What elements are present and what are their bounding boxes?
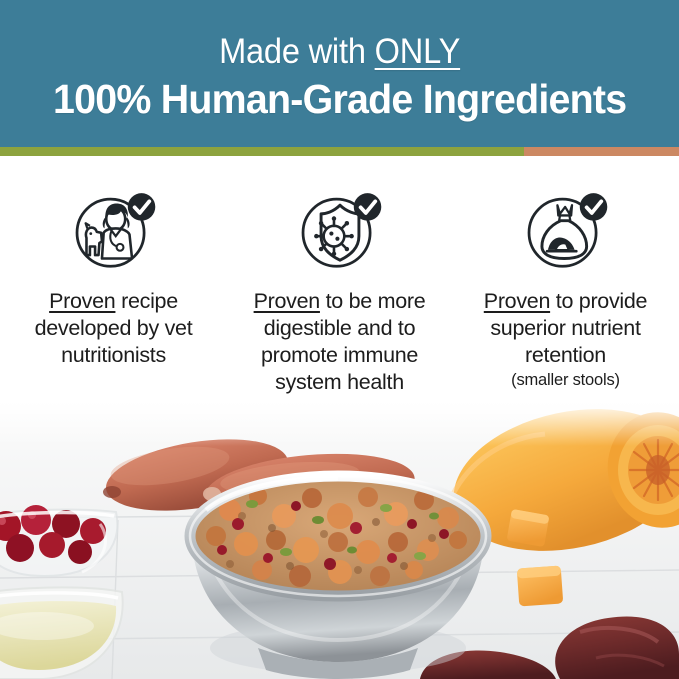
waste-bag-icon	[523, 188, 609, 274]
accent-strip	[0, 147, 679, 156]
infographic-page: Made with ONLY 100% Human-Grade Ingredie…	[0, 0, 679, 679]
headline-only-emphasis: ONLY	[375, 32, 460, 71]
benefit-text-nutrient-retention: Proven to provide superior nutrient rete…	[453, 288, 679, 369]
accent-strip-green	[0, 147, 524, 156]
food-photo-illustration	[0, 400, 679, 679]
benefit-item-nutrient-retention: Proven to provide superior nutrient rete…	[453, 156, 679, 390]
benefit-text-digestible-immune: Proven to be more digestible and to prom…	[227, 288, 453, 396]
accent-strip-orange	[524, 147, 679, 156]
benefit-proven-emphasis: Proven	[484, 289, 550, 313]
benefit-item-vet-recipe: Proven recipe developed by vet nutrition…	[1, 156, 227, 369]
benefits-row: Proven recipe developed by vet nutrition…	[0, 156, 679, 418]
benefit-text-vet-recipe: Proven recipe developed by vet nutrition…	[1, 288, 227, 369]
benefit-proven-emphasis: Proven	[254, 289, 320, 313]
headline-line-2: 100% Human-Grade Ingredients	[53, 75, 626, 123]
benefit-item-digestible-immune: Proven to be more digestible and to prom…	[227, 156, 453, 396]
header-banner: Made with ONLY 100% Human-Grade Ingredie…	[0, 0, 679, 147]
headline-line-1-prefix: Made with	[219, 32, 375, 71]
stainless-steel-dog-food-bowl	[190, 474, 490, 679]
benefit-subtext-smaller-stools: (smaller stools)	[511, 370, 620, 390]
headline-line-1: Made with ONLY	[219, 31, 460, 73]
vet-nutritionist-with-dog-icon	[71, 188, 157, 274]
benefit-proven-emphasis: Proven	[49, 289, 115, 313]
shield-with-germ-icon	[297, 188, 383, 274]
food-photo	[0, 400, 679, 679]
